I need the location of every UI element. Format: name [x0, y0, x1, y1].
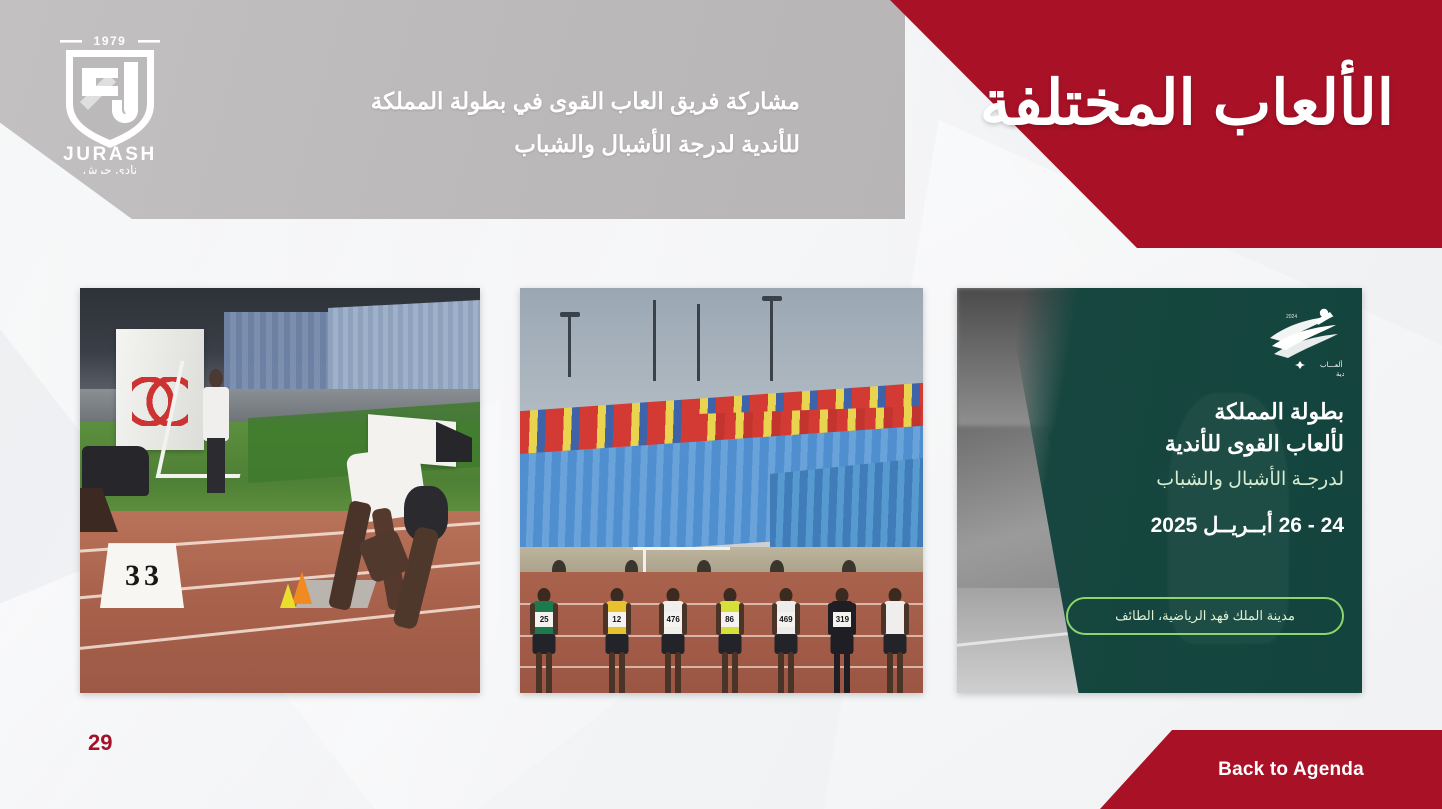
photo-championship-poster: 85 2024 ألعــ: [957, 288, 1362, 693]
jurash-club-logo: 1979 JURASH نادي جرش: [46, 26, 174, 174]
floodlight-head: [560, 312, 580, 317]
slide-subtitle: مشاركة فريق العاب القوى في بطولة المملكة…: [200, 80, 800, 165]
lane-number-marker: 3 3: [100, 543, 184, 608]
subtitle-line-1: مشاركة فريق العاب القوى في بطولة المملكة: [200, 80, 800, 123]
athlete-bib: 319: [832, 612, 853, 627]
floodlight-pole: [697, 304, 700, 381]
svg-text:ألعـــاب: ألعـــاب: [1320, 360, 1342, 369]
lane-marker-digit-left: 3: [125, 559, 140, 593]
page-number: 29: [88, 730, 112, 756]
lane-marker-digit-right: 3: [144, 559, 159, 593]
svg-text:القوى السعودية: القوى السعودية: [1336, 370, 1344, 378]
track-official: [200, 369, 232, 491]
poster-text-block: بطولة المملكة لألعاب القوى للأندية لدرجـ…: [1084, 396, 1344, 538]
svg-text:JURASH: JURASH: [63, 144, 157, 165]
floodlight-pole: [653, 300, 656, 381]
photo-athletes-lined-up: 25 12 476: [520, 288, 923, 693]
poster-date: 24 - 26 أبــريــل 2025: [1084, 513, 1344, 538]
athlete-bib: 86: [719, 612, 740, 627]
floodlight-head: [762, 296, 782, 301]
poster-venue-badge: مدينة الملك فهد الرياضية، الطائف: [1066, 597, 1344, 635]
floodlight-pole: [568, 312, 571, 377]
stadium-seats-blue-upper: [328, 300, 480, 397]
runner-left: [80, 446, 168, 551]
athlete-bib: 25: [534, 612, 555, 627]
runner-in-blocks: [320, 450, 456, 632]
presentation-slide: 1979 JURASH نادي جرش مشاركة فريق العاب ا…: [0, 0, 1442, 809]
page-title: الألعاب المختلفة: [980, 66, 1394, 139]
saudi-athletics-federation-logo: 2024 ألعـــاب القوى السعودية: [1258, 304, 1344, 382]
back-to-agenda-label: Back to Agenda: [1178, 759, 1364, 781]
poster-title-line-2: لألعاب القوى للأندية: [1084, 428, 1344, 460]
floodlight-pole: [770, 296, 773, 381]
athlete-bib: 12: [606, 612, 627, 627]
athlete-bib: 476: [663, 612, 684, 627]
subtitle-line-2: للأندية لدرجة الأشبال والشباب: [200, 123, 800, 166]
poster-title-line-1: بطولة المملكة: [1084, 396, 1344, 428]
athlete-bib: 469: [775, 612, 796, 627]
hurdle: [633, 547, 730, 574]
svg-text:نادي جرش: نادي جرش: [83, 163, 137, 174]
svg-text:1979: 1979: [94, 34, 127, 48]
svg-text:2024: 2024: [1286, 314, 1297, 320]
photo-sprinter-starting-blocks: 3 3: [80, 288, 480, 693]
poster-subtitle: لدرجـة الأشبال والشباب: [1084, 468, 1344, 491]
